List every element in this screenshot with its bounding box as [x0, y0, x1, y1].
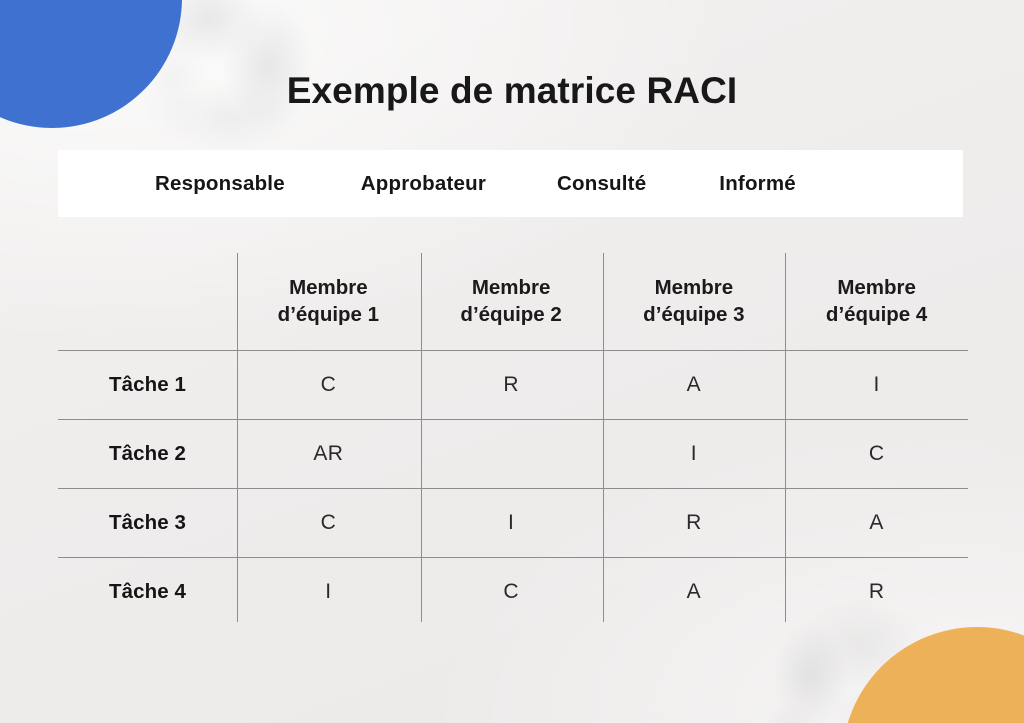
cell-r2-c0: C	[237, 489, 420, 558]
raci-table-body: Tâche 1 C R A I Tâche 2 AR I C Tâche 3 C…	[58, 351, 968, 627]
legend-item-responsable: Responsable	[155, 172, 285, 196]
cell-r2-c2: R	[603, 489, 786, 558]
cell-r2-c3: A	[785, 489, 968, 558]
table-row: Tâche 1 C R A I	[58, 351, 968, 420]
column-header-line2: d’équipe 3	[643, 303, 744, 326]
column-header-membre-4: Membre d’équipe 4	[785, 253, 968, 351]
column-header-line2: d’équipe 1	[278, 303, 379, 326]
cell-r0-c1: R	[420, 351, 603, 420]
row-label-tache-3: Tâche 3	[58, 489, 237, 558]
table-row: Tâche 2 AR I C	[58, 420, 968, 489]
raci-table: Membre d’équipe 1 Membre d’équipe 2 Memb…	[58, 253, 968, 626]
cell-r2-c1: I	[420, 489, 603, 558]
cell-r3-c0: I	[237, 558, 420, 627]
row-label-tache-4: Tâche 4	[58, 558, 237, 627]
cell-r1-c3: C	[785, 420, 968, 489]
column-header-line2: d’équipe 2	[460, 303, 561, 326]
table-row: Tâche 4 I C A R	[58, 558, 968, 627]
slide-canvas: Exemple de matrice RACI Responsable Appr…	[0, 0, 1024, 723]
column-header-line2: d’équipe 4	[826, 303, 927, 326]
cell-r3-c1: C	[420, 558, 603, 627]
column-header-line1: Membre	[837, 276, 916, 299]
page-title: Exemple de matrice RACI	[0, 71, 1024, 112]
legend-item-approbateur: Approbateur	[361, 172, 486, 196]
cell-r3-c3: R	[785, 558, 968, 627]
table-row: Tâche 3 C I R A	[58, 489, 968, 558]
cell-r1-c1	[420, 420, 603, 489]
cell-r3-c2: A	[603, 558, 786, 627]
column-header-membre-2: Membre d’équipe 2	[420, 253, 603, 351]
raci-table-head: Membre d’équipe 1 Membre d’équipe 2 Memb…	[58, 253, 968, 351]
table-corner-cell	[58, 253, 237, 351]
table-header-row: Membre d’équipe 1 Membre d’équipe 2 Memb…	[58, 253, 968, 351]
column-header-line1: Membre	[655, 276, 734, 299]
column-header-line1: Membre	[472, 276, 551, 299]
column-header-membre-3: Membre d’équipe 3	[603, 253, 786, 351]
raci-legend-bar: Responsable Approbateur Consulté Informé	[58, 150, 963, 217]
row-label-tache-1: Tâche 1	[58, 351, 237, 420]
column-header-line1: Membre	[289, 276, 368, 299]
legend-item-informe: Informé	[719, 172, 796, 196]
cell-r1-c0: AR	[237, 420, 420, 489]
column-header-membre-1: Membre d’équipe 1	[237, 253, 420, 351]
cell-r0-c0: C	[237, 351, 420, 420]
cell-r1-c2: I	[603, 420, 786, 489]
decorative-circle-orange	[842, 627, 1024, 723]
cell-r0-c3: I	[785, 351, 968, 420]
row-label-tache-2: Tâche 2	[58, 420, 237, 489]
legend-item-consulte: Consulté	[557, 172, 646, 196]
cell-r0-c2: A	[603, 351, 786, 420]
raci-matrix: Membre d’équipe 1 Membre d’équipe 2 Memb…	[58, 253, 968, 626]
